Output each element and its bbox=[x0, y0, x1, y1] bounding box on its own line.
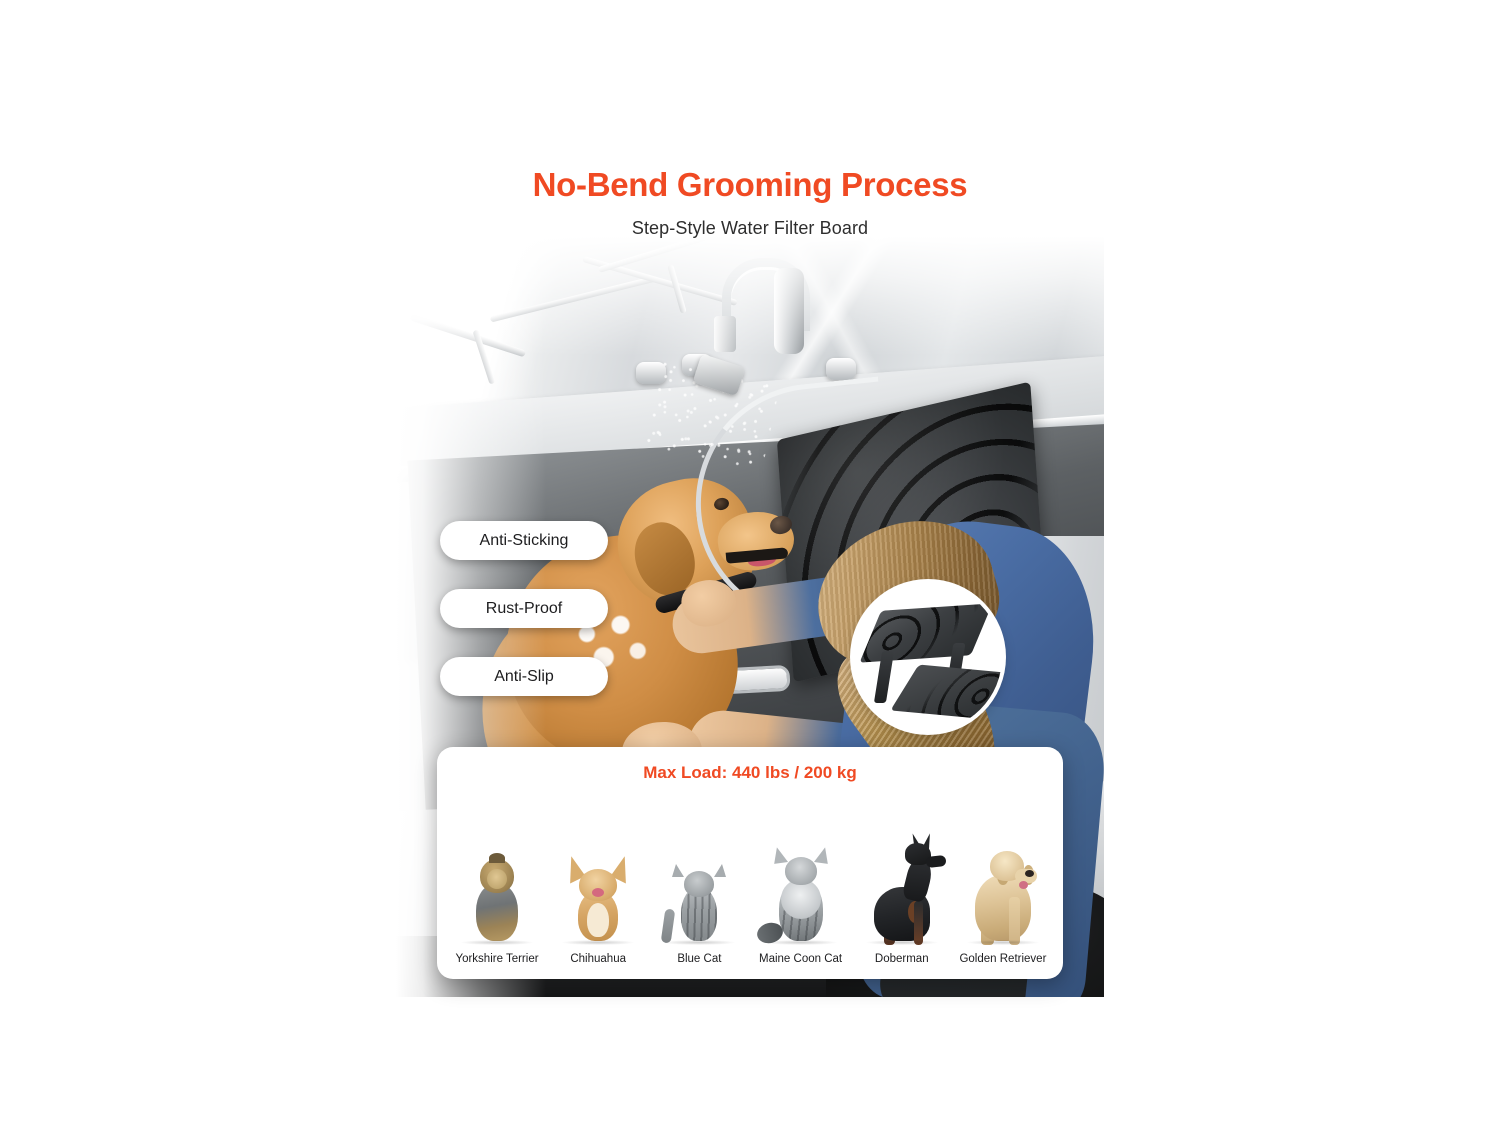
animal-ruff bbox=[781, 879, 821, 919]
golden-retriever-icon bbox=[953, 829, 1053, 947]
animal-foreleg bbox=[1009, 897, 1020, 945]
animal-face bbox=[487, 869, 507, 889]
animal-shadow bbox=[967, 940, 1039, 945]
max-load-card: Max Load: 440 lbs / 200 kg Yorkshire Ter… bbox=[437, 747, 1063, 979]
doberman-icon bbox=[852, 829, 952, 947]
maine-coon-cat-icon bbox=[751, 829, 851, 947]
breed-label: Yorkshire Terrier bbox=[455, 953, 538, 965]
animal-snout bbox=[925, 855, 946, 868]
inset-board-top bbox=[859, 603, 992, 662]
animal-ear bbox=[814, 846, 830, 864]
blue-cat-icon bbox=[649, 829, 749, 947]
breed-label: Doberman bbox=[875, 953, 929, 965]
feature-pill-rust-proof: Rust-Proof bbox=[440, 589, 608, 628]
animal-shadow bbox=[866, 940, 938, 945]
faucet-valve bbox=[826, 358, 856, 380]
breed-label: Maine Coon Cat bbox=[759, 953, 842, 965]
chihuahua-icon bbox=[548, 829, 648, 947]
animal-tail bbox=[661, 908, 676, 943]
animal-foreleg bbox=[914, 901, 923, 945]
animal-ear bbox=[772, 846, 788, 864]
animal-ear bbox=[672, 864, 684, 877]
breed-item-blue-cat: Blue Cat bbox=[649, 829, 749, 965]
breed-label: Golden Retriever bbox=[959, 953, 1046, 965]
breed-item-chihuahua: Chihuahua bbox=[548, 829, 648, 965]
product-closeup-inset bbox=[854, 583, 1002, 731]
top-edge-fade bbox=[396, 236, 1104, 356]
animal-tongue bbox=[1019, 881, 1028, 889]
yorkshire-terrier-icon bbox=[447, 829, 547, 947]
breed-list: Yorkshire Terrier Chihuahua bbox=[447, 799, 1053, 965]
breed-item-doberman: Doberman bbox=[852, 829, 952, 965]
animal-ear bbox=[714, 864, 726, 877]
animal-shadow bbox=[663, 940, 735, 945]
product-infographic: No-Bend Grooming Process Step-Style Wate… bbox=[0, 0, 1500, 1125]
animal-topknot bbox=[489, 853, 505, 863]
breed-item-maine-coon-cat: Maine Coon Cat bbox=[751, 829, 851, 965]
animal-head bbox=[785, 857, 817, 885]
inset-board-base bbox=[890, 665, 1002, 720]
animal-shadow bbox=[461, 940, 533, 945]
breed-item-yorkshire-terrier: Yorkshire Terrier bbox=[447, 829, 547, 965]
animal-head bbox=[684, 871, 714, 897]
animal-nose bbox=[1025, 870, 1034, 877]
animal-shadow bbox=[562, 940, 634, 945]
animal-chest bbox=[587, 903, 609, 937]
breed-label: Blue Cat bbox=[677, 953, 721, 965]
max-load-title: Max Load: 440 lbs / 200 kg bbox=[437, 763, 1063, 783]
page-title: No-Bend Grooming Process bbox=[0, 166, 1500, 204]
animal-mouth bbox=[592, 888, 604, 897]
animal-shadow bbox=[765, 940, 837, 945]
page-subtitle: Step-Style Water Filter Board bbox=[0, 218, 1500, 239]
feature-pill-anti-slip: Anti-Slip bbox=[440, 657, 608, 696]
feature-pill-anti-sticking: Anti-Sticking bbox=[440, 521, 608, 560]
breed-item-golden-retriever: Golden Retriever bbox=[953, 829, 1053, 965]
breed-label: Chihuahua bbox=[570, 953, 626, 965]
